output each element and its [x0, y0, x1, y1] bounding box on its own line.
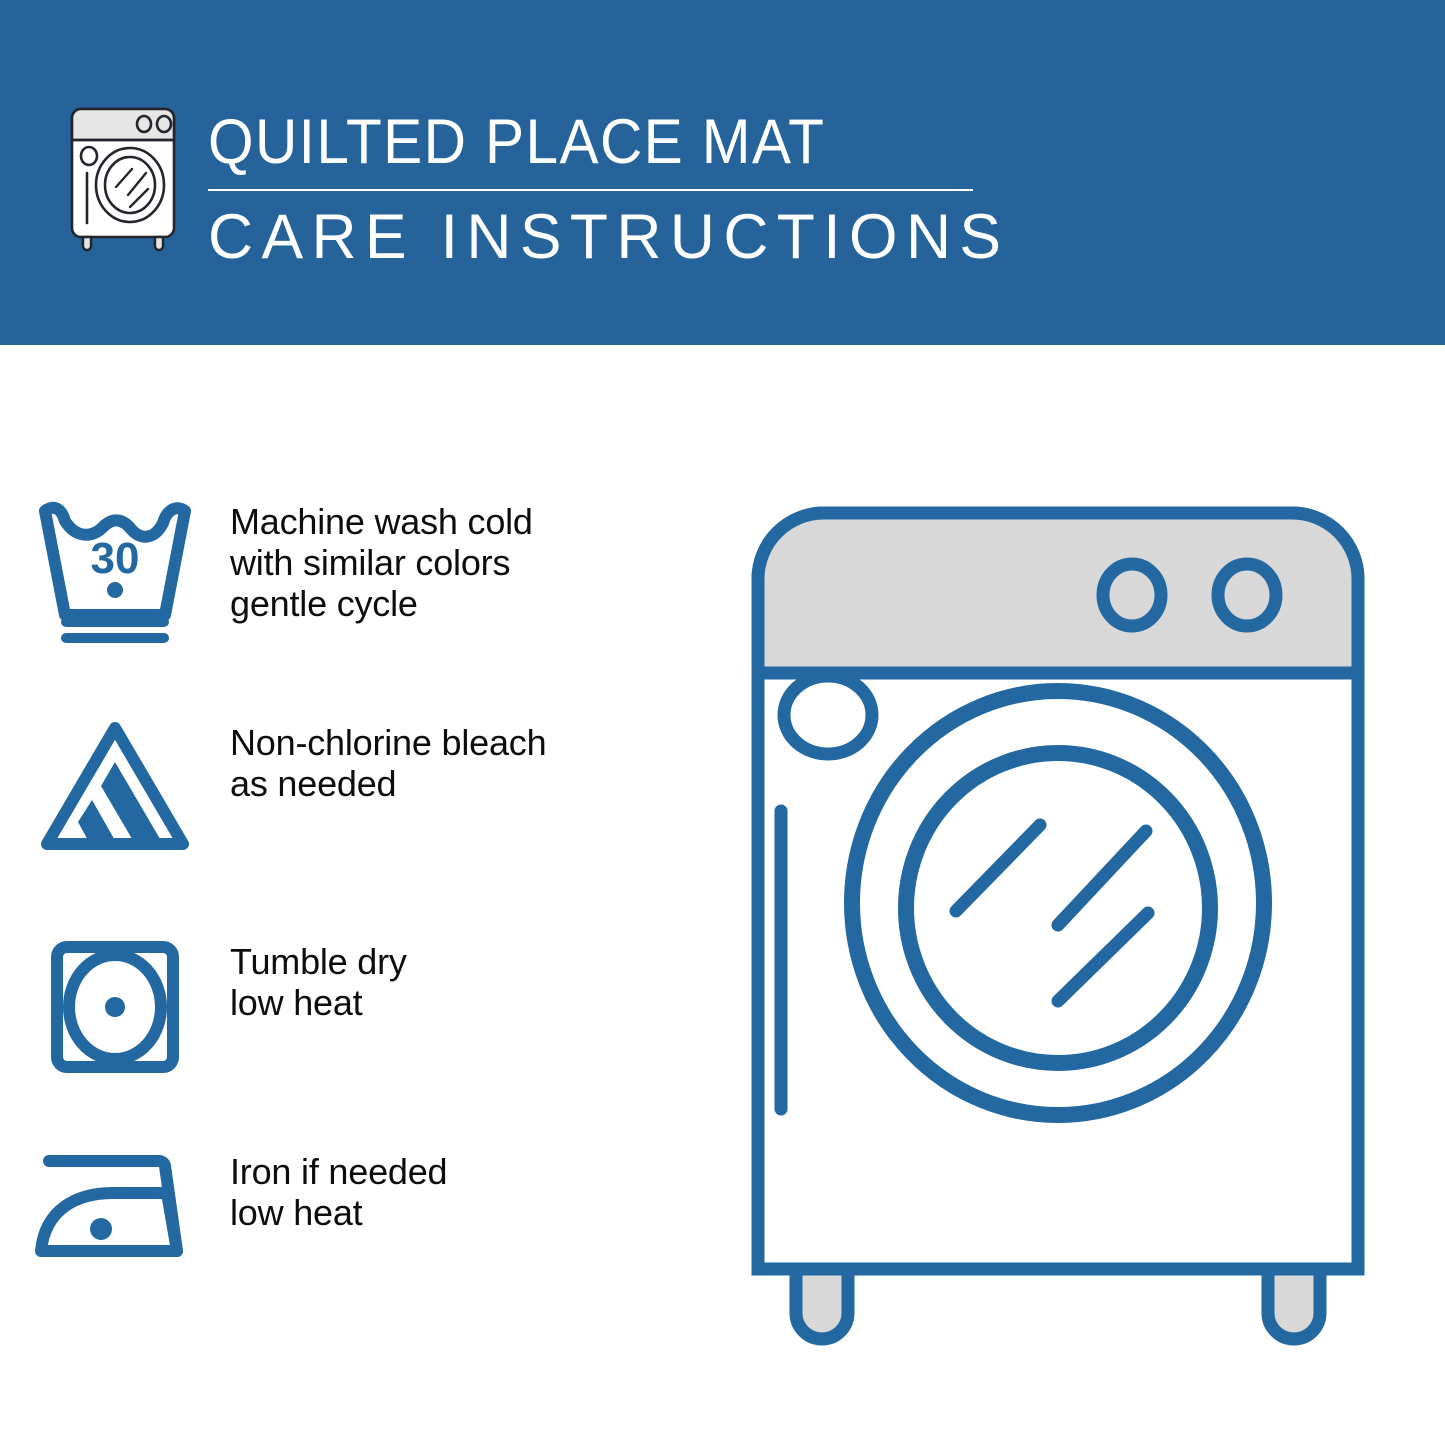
knob-left — [1103, 564, 1161, 626]
care-row-machine-wash: 30 Machine wash cold with similar colors… — [0, 497, 700, 647]
care-text-bleach: Non-chlorine bleach as needed — [230, 718, 546, 804]
wash-temperature-label: 30 — [91, 534, 140, 583]
tumble-dry-one-dot-icon — [45, 937, 185, 1077]
leg-left — [796, 1269, 848, 1339]
leg-right — [1268, 1269, 1320, 1339]
icon-cell — [0, 937, 230, 1077]
care-instructions-page: QUILTED PLACE MAT CARE INSTRUCTIONS 30 M… — [0, 0, 1445, 1445]
knob-right — [1218, 564, 1276, 626]
header-band: QUILTED PLACE MAT CARE INSTRUCTIONS — [0, 0, 1445, 345]
page-title: QUILTED PLACE MAT — [208, 106, 943, 178]
icon-cell — [0, 1147, 230, 1267]
washing-machine-icon — [62, 103, 184, 253]
care-text-machine-wash: Machine wash cold with similar colors ge… — [230, 497, 533, 624]
care-text-tumble-dry: Tumble dry low heat — [230, 937, 407, 1023]
header-text-block: QUILTED PLACE MAT CARE INSTRUCTIONS — [208, 106, 998, 274]
icon-cell: 30 — [0, 497, 230, 647]
iron-one-dot-icon — [35, 1147, 195, 1267]
triangle-stripes-icon — [31, 718, 199, 858]
care-row-bleach: Non-chlorine bleach as needed — [0, 718, 700, 858]
care-row-tumble-dry: Tumble dry low heat — [0, 937, 700, 1077]
title-divider — [208, 189, 973, 191]
washing-machine-illustration — [728, 483, 1388, 1353]
care-row-iron: Iron if needed low heat — [0, 1147, 700, 1267]
page-subtitle: CARE INSTRUCTIONS — [208, 200, 990, 274]
icon-cell — [0, 718, 230, 858]
indicator-light — [784, 676, 872, 754]
care-text-iron: Iron if needed low heat — [230, 1147, 447, 1233]
wash-tub-30-icon: 30 — [31, 497, 199, 647]
